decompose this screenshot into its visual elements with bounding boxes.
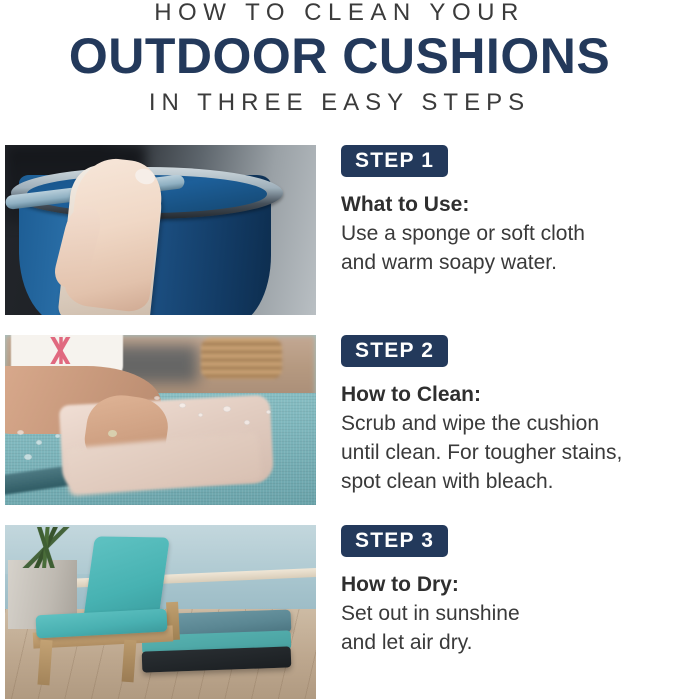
water-droplet xyxy=(266,410,271,414)
step-3-body-line-1: Set out in sunshine xyxy=(341,599,679,628)
agave-plant xyxy=(14,527,76,569)
step-3-heading: How to Dry: xyxy=(341,570,679,599)
step-3-body-line-2: and let air dry. xyxy=(341,628,679,657)
step-2-heading: How to Clean: xyxy=(341,380,679,409)
infographic-page: HOW TO CLEAN YOUR OUTDOOR CUSHIONS IN TH… xyxy=(0,0,679,699)
step-row-3: STEP 3 How to Dry: Set out in sunshine a… xyxy=(0,525,679,699)
step-2-body-line-1: Scrub and wipe the cushion xyxy=(341,409,679,438)
step-2-text-column: STEP 2 How to Clean: Scrub and wipe the … xyxy=(341,335,679,496)
step-1-body-line-1: Use a sponge or soft cloth xyxy=(341,219,679,248)
step-1-text-column: STEP 1 What to Use: Use a sponge or soft… xyxy=(341,145,679,277)
step-2-photo xyxy=(5,335,316,505)
wicker-basket xyxy=(201,338,282,379)
ring xyxy=(108,430,117,437)
step-row-2: STEP 2 How to Clean: Scrub and wipe the … xyxy=(0,335,679,505)
step-1-photo xyxy=(5,145,316,315)
step-1-badge: STEP 1 xyxy=(341,145,448,177)
step-3-badge: STEP 3 xyxy=(341,525,448,557)
water-droplet xyxy=(55,434,60,438)
page-title: OUTDOOR CUSHIONS xyxy=(0,28,679,84)
step-1-body-line-2: and warm soapy water. xyxy=(341,248,679,277)
header-line-top: HOW TO CLEAN YOUR xyxy=(0,0,679,28)
step-row-1: STEP 1 What to Use: Use a sponge or soft… xyxy=(0,145,679,315)
header-line-sub: IN THREE EASY STEPS xyxy=(0,88,679,118)
palm-print-graphic xyxy=(36,337,86,364)
step-2-badge: STEP 2 xyxy=(341,335,448,367)
step-1-heading: What to Use: xyxy=(341,190,679,219)
step-2-body-line-3: spot clean with bleach. xyxy=(341,467,679,496)
water-droplet xyxy=(24,454,32,460)
step-2-body-line-2: until clean. For tougher stains, xyxy=(341,438,679,467)
step-3-photo xyxy=(5,525,316,699)
step-3-text-column: STEP 3 How to Dry: Set out in sunshine a… xyxy=(341,525,679,657)
